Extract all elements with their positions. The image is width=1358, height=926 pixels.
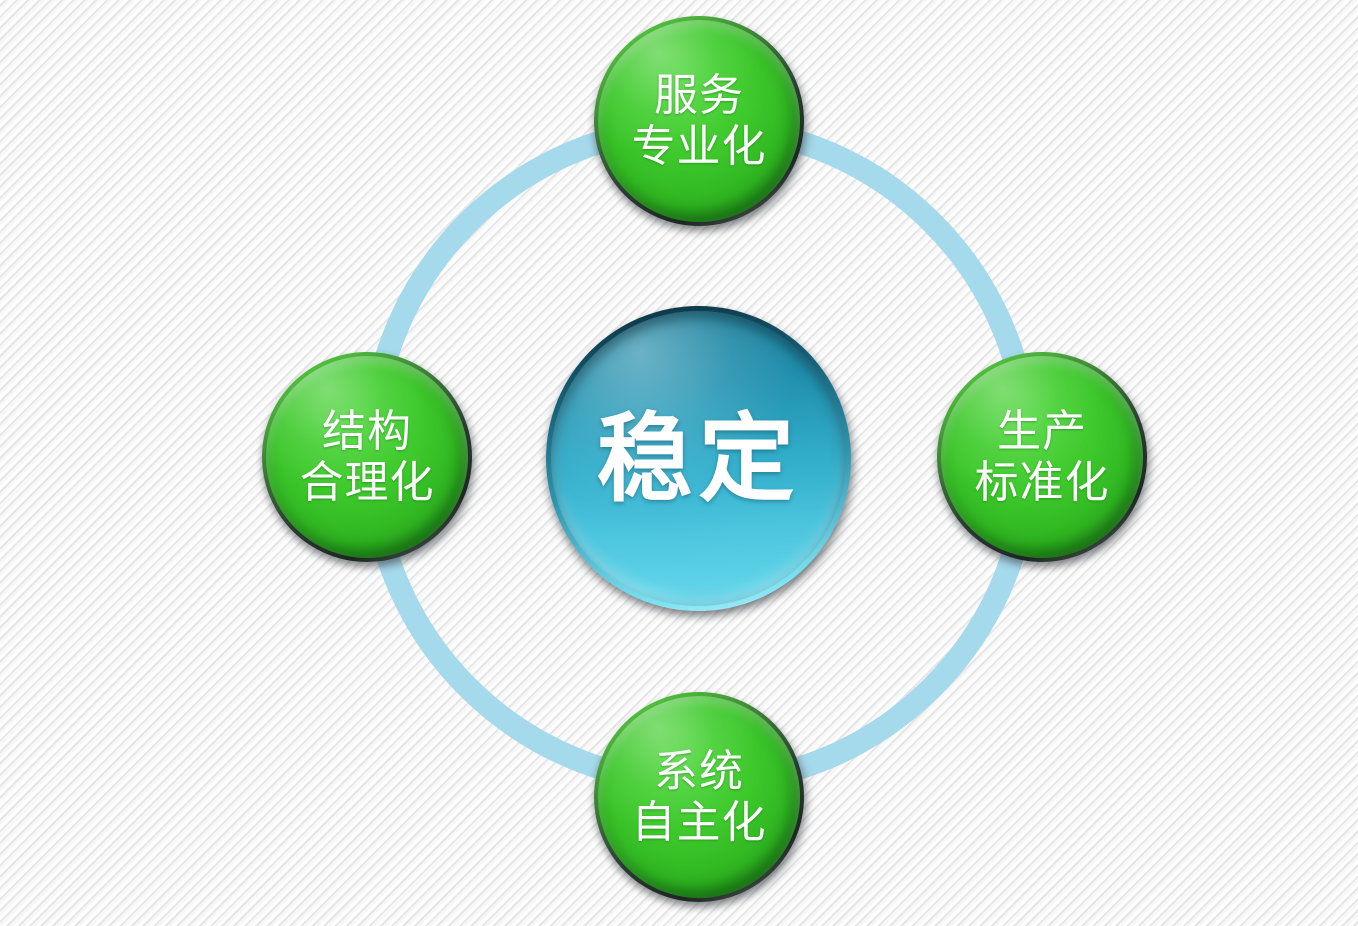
node-sphere-icon: 生产 标准化 (937, 352, 1147, 562)
node-label-line2: 自主化 (632, 797, 767, 848)
node-label-line2: 合理化 (300, 457, 435, 508)
node-label-line2: 标准化 (975, 457, 1110, 508)
node-label-line1: 生产 (997, 406, 1087, 457)
node-face: 结构 合理化 (266, 356, 468, 558)
node-label-line2: 专业化 (632, 121, 767, 172)
node-system-autonomy[interactable]: 系统 自主化 (594, 692, 806, 904)
node-sphere-icon: 服务 专业化 (594, 16, 804, 226)
node-face: 系统 自主化 (598, 696, 800, 898)
node-label-line1: 结构 (322, 406, 412, 457)
node-sphere-icon: 结构 合理化 (262, 352, 472, 562)
hub-node[interactable]: 稳定 (546, 306, 854, 614)
node-sphere-icon: 系统 自主化 (594, 692, 804, 902)
hub-sphere-icon: 稳定 (546, 306, 851, 611)
node-face: 服务 专业化 (598, 20, 800, 222)
node-face: 生产 标准化 (941, 356, 1143, 558)
node-label-line1: 系统 (654, 746, 744, 797)
node-production-standardization[interactable]: 生产 标准化 (937, 352, 1149, 564)
node-structure-rationalization[interactable]: 结构 合理化 (262, 352, 474, 564)
diagram-canvas: 稳定 服务 专业化 生产 标准化 系统 自主化 (0, 0, 1358, 926)
hub-face: 稳定 (551, 311, 846, 606)
node-service-specialization[interactable]: 服务 专业化 (594, 16, 806, 228)
hub-label: 稳定 (597, 411, 801, 507)
node-label-line1: 服务 (654, 70, 744, 121)
